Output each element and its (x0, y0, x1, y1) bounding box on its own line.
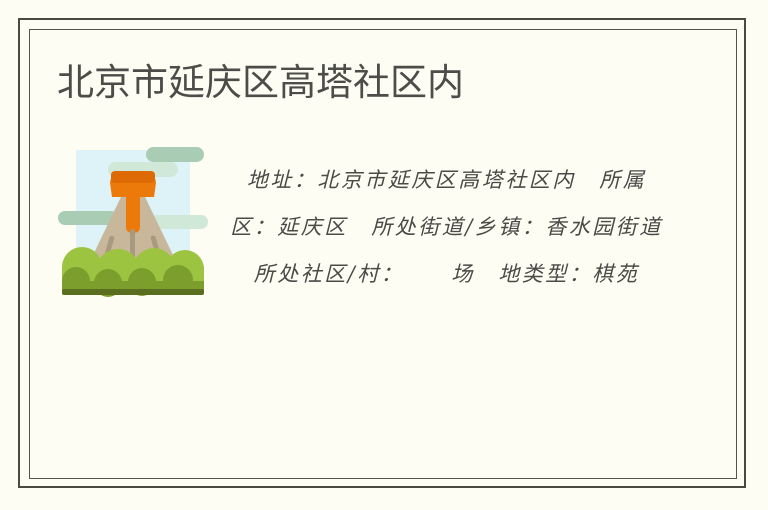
location-details-text: 地址：北京市延庆区高塔社区内 所属区：延庆区 所处街道/乡镇：香水园街道 所处社… (224, 157, 669, 298)
page-title: 北京市延庆区高塔社区内 (57, 59, 464, 107)
volcano-icon (58, 145, 208, 298)
info-card: 北京市延庆区高塔社区内 (29, 29, 737, 479)
